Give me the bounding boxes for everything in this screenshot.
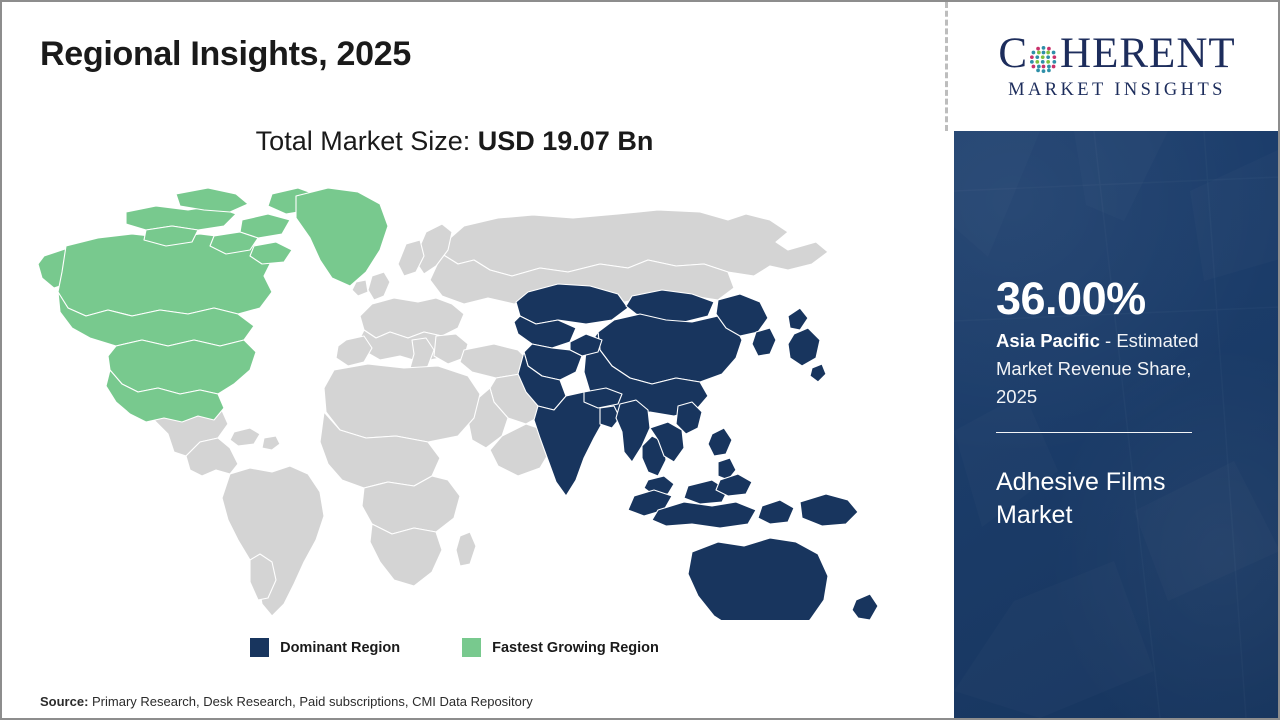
map-legend: Dominant Region Fastest Growing Region	[2, 638, 907, 657]
total-market-size: Total Market Size: USD 19.07 Bn	[2, 126, 907, 157]
source-text: Primary Research, Desk Research, Paid su…	[92, 694, 533, 709]
panel-divider-dashed	[945, 2, 948, 131]
infographic-root: Regional Insights, 2025 Total Market Siz…	[0, 0, 1280, 720]
brand-logo: C	[954, 2, 1280, 131]
legend-label-fastest-growing: Fastest Growing Region	[492, 640, 659, 656]
globe-dots-icon	[1028, 40, 1059, 71]
stat-divider-line	[996, 432, 1192, 433]
market-size-label: Total Market Size:	[256, 126, 478, 156]
logo-inner: C	[971, 32, 1263, 101]
stat-panel: 36.00% Asia Pacific - Estimated Market R…	[954, 131, 1280, 718]
logo-tagline: MARKET INSIGHTS	[1008, 80, 1226, 101]
legend-label-dominant: Dominant Region	[280, 640, 400, 656]
market-size-value: USD 19.07 Bn	[478, 126, 654, 156]
world-map-svg	[28, 180, 898, 620]
source-note: Source: Primary Research, Desk Research,…	[40, 694, 533, 709]
left-content-panel: Regional Insights, 2025 Total Market Siz…	[2, 2, 947, 718]
stat-region-name: Asia Pacific	[996, 330, 1100, 351]
logo-letters-herent: HERENT	[1060, 32, 1236, 75]
panel-texture-overlay	[954, 131, 1280, 718]
legend-swatch-dominant-icon	[250, 638, 269, 657]
market-name: Adhesive Films Market	[996, 466, 1246, 532]
logo-letter-c: C	[998, 32, 1028, 75]
source-label: Source:	[40, 694, 92, 709]
stat-description: Asia Pacific - Estimated Market Revenue …	[996, 327, 1236, 411]
map-region-asia-pacific	[514, 284, 886, 620]
world-map	[28, 180, 898, 620]
legend-swatch-fastest-icon	[462, 638, 481, 657]
logo-wordmark: C	[998, 32, 1235, 75]
legend-item-dominant: Dominant Region	[250, 638, 400, 657]
legend-item-fastest-growing: Fastest Growing Region	[462, 638, 659, 657]
page-title: Regional Insights, 2025	[40, 35, 411, 74]
stat-percentage: 36.00%	[996, 276, 1146, 321]
